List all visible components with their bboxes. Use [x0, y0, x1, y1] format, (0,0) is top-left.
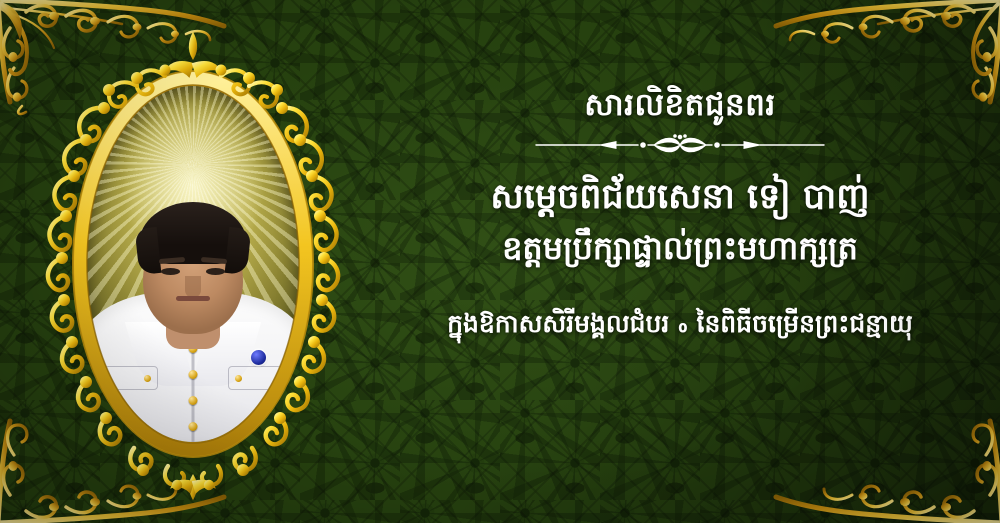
nose	[185, 276, 201, 298]
uniform-button	[189, 396, 198, 405]
hair	[139, 202, 247, 264]
eye-right	[206, 268, 225, 275]
flourish-divider-icon	[530, 132, 830, 158]
pocket-button	[235, 375, 242, 382]
honoree-role: ឧត្តមប្រឹក្សាផ្ទាល់ព្រះមហាក្សត្រ	[502, 228, 858, 268]
portrait-person	[87, 164, 299, 442]
mouth	[176, 296, 210, 301]
jacket-pocket-right	[228, 366, 282, 390]
uniform-button	[189, 370, 198, 379]
eye-left	[161, 268, 180, 275]
pocket-button	[144, 375, 151, 382]
message-text-block: សារលិខិតជូនពរ	[360, 0, 1000, 523]
occasion-line: ក្នុងឱកាសសិរីមង្គលជំបរ ៰ នៃពិធីចម្រើនព្រ…	[447, 308, 913, 339]
banner-title: សារលិខិតជូនពរ	[584, 86, 775, 125]
uniform-button	[189, 422, 198, 431]
blue-medal-badge	[251, 350, 266, 365]
portrait-photo	[87, 86, 299, 442]
white-uniform-jacket	[87, 292, 299, 442]
jacket-pocket-left	[104, 366, 158, 390]
honoree-name: សម្តេចពិជ័យសេនា ទៀ បាញ់	[490, 176, 869, 220]
greeting-banner: សារលិខិតជូនពរ	[0, 0, 1000, 523]
portrait-frame	[34, 24, 352, 504]
